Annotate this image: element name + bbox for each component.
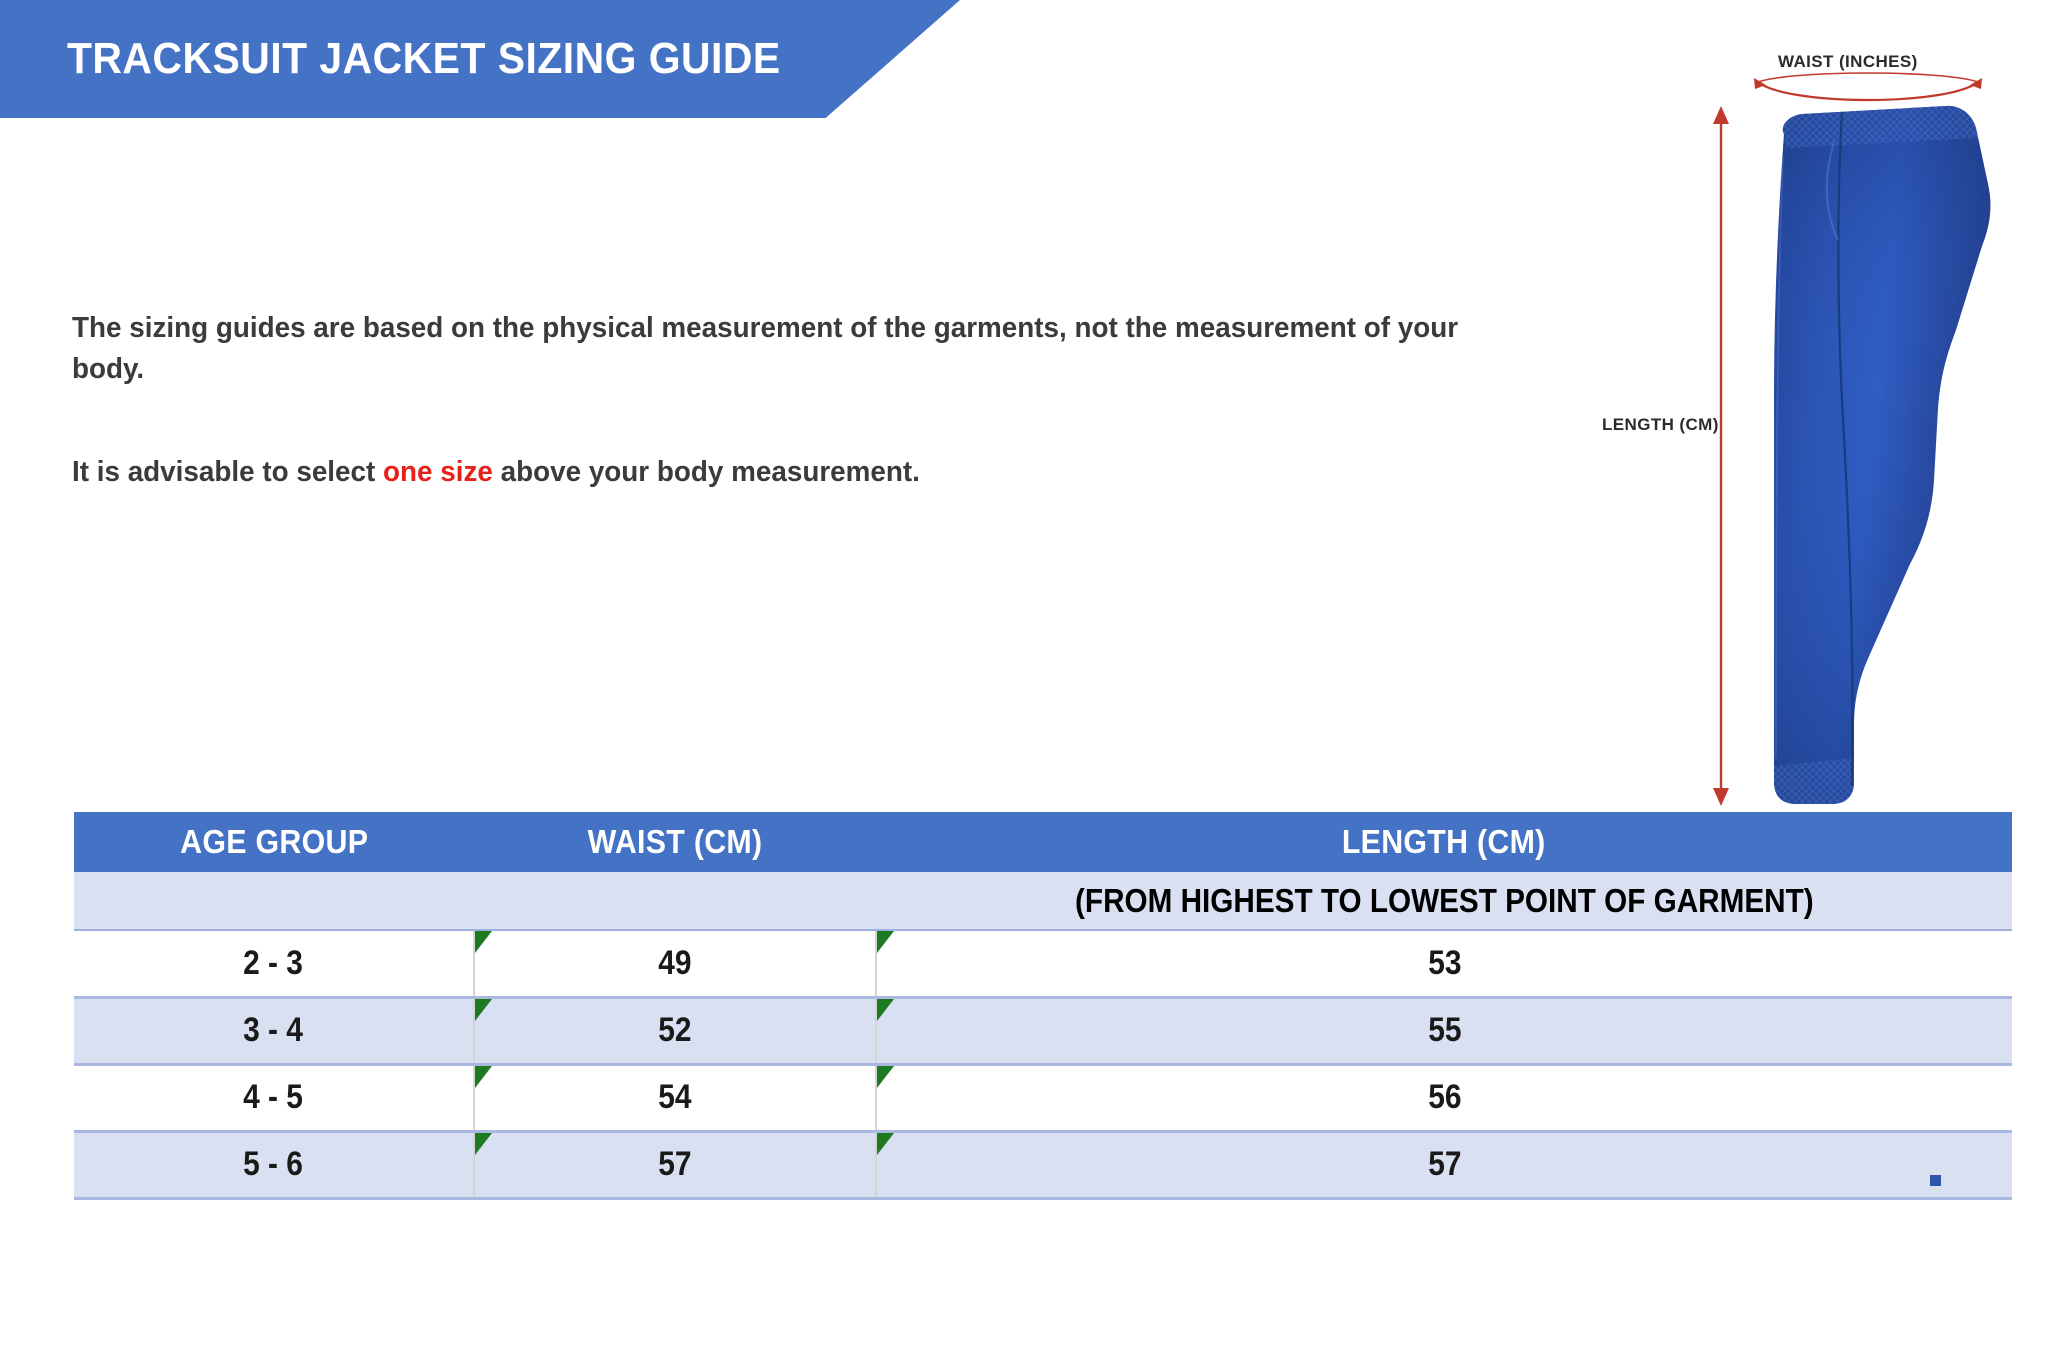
intro-highlight-one-size: one size	[383, 456, 493, 488]
green-marker-icon	[475, 1066, 492, 1088]
cell-length: 53	[876, 930, 2012, 997]
green-marker-icon	[877, 1066, 894, 1088]
column-header-waist: WAIST (CM)	[474, 812, 876, 872]
cell-age-group: 3 - 4	[74, 997, 474, 1064]
waist-measure-label: WAIST (INCHES)	[1778, 52, 1918, 72]
intro-text-block: The sizing guides are based on the physi…	[72, 308, 1552, 494]
page-title: TRACKSUIT JACKET SIZING GUIDE	[0, 34, 781, 84]
cell-age-group: 4 - 5	[74, 1064, 474, 1131]
table-row: 5 - 6 57 57	[74, 1131, 2012, 1198]
cell-length: 57	[876, 1131, 2012, 1198]
green-marker-icon	[475, 999, 492, 1021]
intro-p2-after: above your body measurement.	[493, 456, 920, 488]
intro-paragraph-1: The sizing guides are based on the physi…	[72, 308, 1493, 390]
table-subheader-row: (FROM HIGHEST TO LOWEST POINT OF GARMENT…	[74, 872, 2012, 930]
cell-waist: 54	[474, 1064, 876, 1131]
cell-waist: 49	[474, 930, 876, 997]
length-measure-label: LENGTH (CM)	[1602, 415, 1719, 435]
tracksuit-pant-illustration	[1750, 98, 2048, 810]
cell-length: 55	[876, 997, 2012, 1064]
column-header-length: LENGTH (CM)	[876, 812, 2012, 872]
cell-age-group: 5 - 6	[74, 1131, 474, 1198]
table-row: 4 - 5 54 56	[74, 1064, 2012, 1131]
table-header-row: AGE GROUP WAIST (CM) LENGTH (CM)	[74, 812, 2012, 872]
column-header-age-group: AGE GROUP	[74, 812, 474, 872]
cell-length: 56	[876, 1064, 2012, 1131]
cell-age-group: 2 - 3	[74, 930, 474, 997]
intro-paragraph-2: It is advisable to select one size above…	[72, 452, 1493, 493]
green-marker-icon	[475, 931, 492, 953]
table-row: 3 - 4 52 55	[74, 997, 2012, 1064]
table-row: 2 - 3 49 53	[74, 930, 2012, 997]
garment-diagram: WAIST (INCHES) LENGTH (CM)	[1600, 20, 2048, 810]
length-arrow-icon	[1708, 106, 1734, 806]
table-selection-handle[interactable]	[1930, 1175, 1941, 1186]
header-banner: TRACKSUIT JACKET SIZING GUIDE	[0, 0, 960, 118]
intro-p2-before: It is advisable to select	[72, 456, 383, 488]
green-marker-icon	[877, 1133, 894, 1155]
sizing-guide-page: TRACKSUIT JACKET SIZING GUIDE The sizing…	[0, 0, 2048, 1365]
cell-waist: 52	[474, 997, 876, 1064]
sizing-table: AGE GROUP WAIST (CM) LENGTH (CM) (FROM H…	[74, 812, 2012, 1200]
subheader-length-note: (FROM HIGHEST TO LOWEST POINT OF GARMENT…	[876, 872, 2012, 930]
green-marker-icon	[877, 999, 894, 1021]
green-marker-icon	[475, 1133, 492, 1155]
subheader-blank-waist	[474, 872, 876, 930]
subheader-blank-age	[74, 872, 474, 930]
green-marker-icon	[877, 931, 894, 953]
cell-waist: 57	[474, 1131, 876, 1198]
